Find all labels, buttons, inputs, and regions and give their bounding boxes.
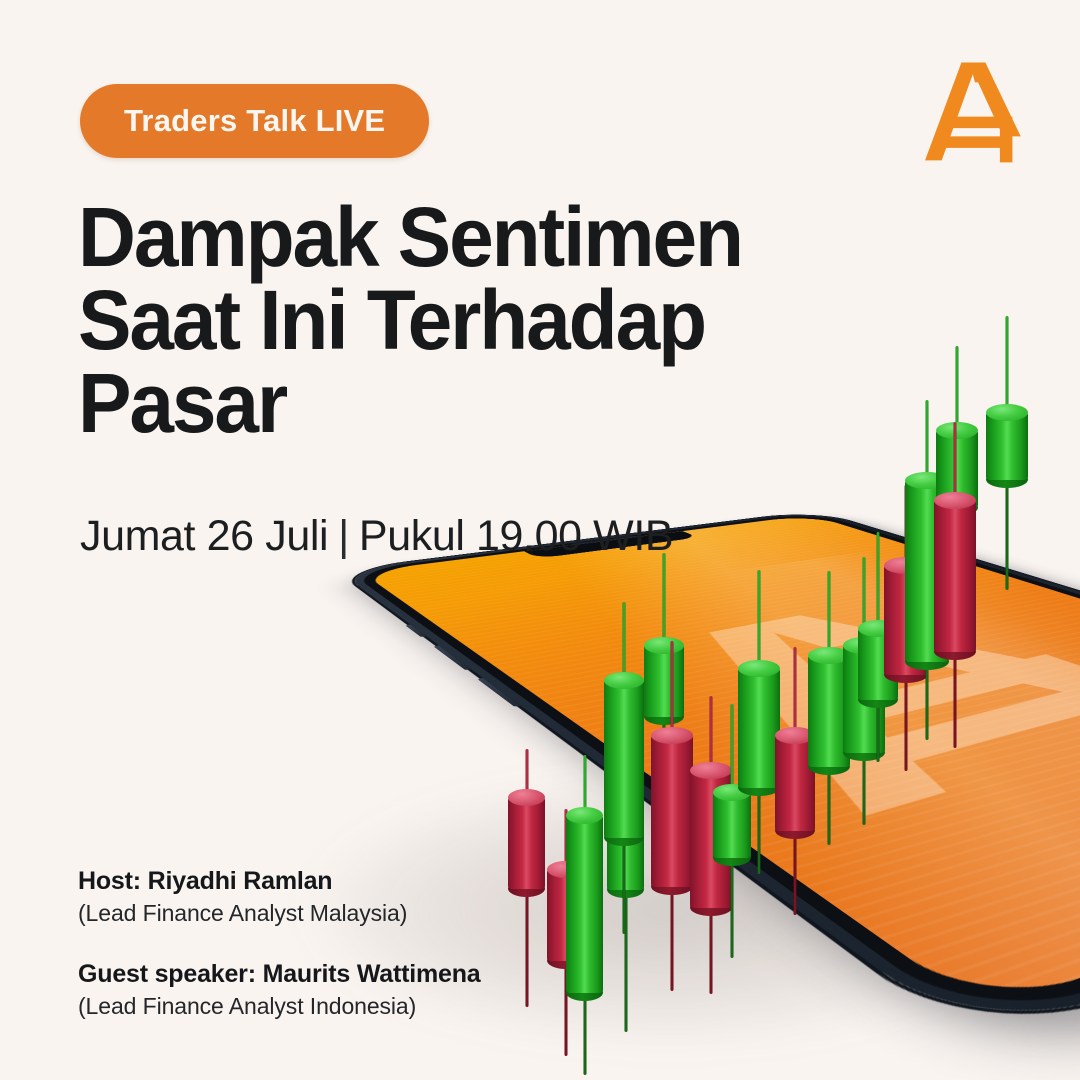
- candle-cap-top: [808, 647, 850, 664]
- candle-wick-lower: [828, 767, 831, 845]
- candle-wick-lower: [926, 662, 929, 740]
- candle-wick-lower: [623, 838, 626, 934]
- live-badge: Traders Talk LIVE: [80, 84, 429, 158]
- candle-wick-lower: [956, 508, 959, 564]
- candle-wick-lower: [525, 889, 528, 1007]
- candle-wick-upper: [794, 647, 797, 735]
- candlestick-bullish: [566, 815, 603, 993]
- phone-volume-up-button: [433, 645, 471, 670]
- candle-body: [843, 645, 885, 753]
- candle-cap-top: [651, 727, 693, 744]
- candle-wick-lower: [758, 788, 761, 874]
- candle-wick-upper: [564, 809, 567, 869]
- candle-wick-lower: [905, 675, 908, 771]
- candle-wick-upper: [926, 400, 929, 480]
- candle-body: [884, 565, 928, 675]
- candle-body: [508, 797, 545, 889]
- credit-role: (Lead Finance Analyst Malaysia): [78, 899, 481, 929]
- phone-volume-down-button: [477, 678, 520, 707]
- candle-wick-lower: [877, 700, 880, 762]
- candle-cap-top: [858, 620, 898, 637]
- candle-cap-bottom: [808, 758, 850, 775]
- candle-cap-bottom: [508, 880, 545, 897]
- schedule-separator: |: [338, 512, 349, 561]
- candlestick-bullish: [843, 645, 885, 753]
- candle-wick-upper: [954, 422, 957, 500]
- candlestick-bearish: [884, 565, 928, 675]
- candle-cap-bottom: [547, 952, 584, 969]
- candle-wick-upper: [905, 485, 908, 565]
- candle-wick-lower: [710, 908, 713, 994]
- candle-body: [858, 628, 898, 700]
- credit-name: Guest speaker: Maurits Wattimena: [78, 959, 481, 990]
- candle-body: [690, 770, 732, 908]
- candle-wick-upper: [877, 532, 880, 628]
- candle-wick-lower: [583, 993, 586, 1075]
- credit-role: (Lead Finance Analyst Indonesia): [78, 992, 481, 1022]
- candle-body: [547, 869, 584, 961]
- candle-cap-bottom: [604, 829, 644, 846]
- credit-entry: Guest speaker: Maurits Wattimena(Lead Fi…: [78, 959, 481, 1022]
- candle-cap-top: [934, 492, 976, 509]
- candle-body: [713, 792, 751, 858]
- candle-wick-lower: [663, 717, 666, 759]
- credit-name: Host: Riyadhi Ramlan: [78, 866, 481, 897]
- candle-cap-bottom: [884, 666, 928, 683]
- candle-cap-top: [566, 807, 603, 824]
- candle-cap-bottom: [644, 708, 684, 725]
- candle-cap-top: [986, 404, 1028, 421]
- candle-wick-lower: [564, 961, 567, 1056]
- candle-cap-bottom: [738, 779, 780, 796]
- candle-wick-upper: [1006, 316, 1009, 412]
- candle-body: [566, 815, 603, 993]
- candle-cap-top: [607, 800, 644, 817]
- headline-line-3: Pasar: [78, 362, 804, 445]
- page-title: Dampak Sentimen Saat Ini Terhadap Pasar: [78, 196, 804, 445]
- aa-monogram-watermark-icon: [532, 585, 1080, 841]
- headline-line-1: Dampak Sentimen: [78, 196, 804, 279]
- candlestick-bullish: [808, 655, 850, 767]
- candlestick-bullish: [644, 645, 684, 717]
- candle-cap-top: [547, 861, 584, 878]
- candle-cap-top: [713, 784, 751, 801]
- candlestick-bullish: [604, 680, 644, 838]
- candle-cap-top: [644, 637, 684, 654]
- candle-body: [651, 735, 693, 887]
- candlestick-bullish: [986, 412, 1028, 480]
- candle-body: [934, 500, 976, 652]
- candle-wick-upper: [525, 749, 528, 797]
- promo-poster: Traders Talk LIVE Dampak Sentimen Saat I…: [0, 0, 1080, 1080]
- candle-wick-upper: [758, 570, 761, 668]
- candlestick-bearish: [547, 869, 584, 961]
- candle-wick-lower: [731, 858, 734, 958]
- candle-cap-bottom: [986, 471, 1028, 488]
- candle-cap-bottom: [936, 499, 978, 516]
- aa-monogram-logo-icon: [924, 58, 1028, 168]
- candle-body: [604, 680, 644, 838]
- candle-wick-upper: [624, 696, 627, 808]
- credit-entry: Host: Riyadhi Ramlan(Lead Finance Analys…: [78, 866, 481, 929]
- candle-wick-lower: [671, 887, 674, 991]
- candle-cap-top: [690, 762, 732, 779]
- candle-wick-upper: [863, 557, 866, 645]
- candle-body: [986, 412, 1028, 480]
- candlestick-bearish: [934, 500, 976, 652]
- candle-body: [775, 735, 815, 831]
- candle-wick-upper: [583, 755, 586, 815]
- candlestick-bearish: [508, 797, 545, 889]
- candlestick-bullish: [936, 430, 978, 508]
- schedule-line: Jumat 26 Juli|Pukul 19.00 WIB: [80, 512, 673, 561]
- candle-wick-lower: [794, 831, 797, 915]
- candlestick-bearish: [690, 770, 732, 908]
- candle-cap-bottom: [607, 881, 644, 898]
- candle-cap-top: [843, 637, 885, 654]
- candle-cap-bottom: [566, 984, 603, 1001]
- credits-block: Host: Riyadhi Ramlan(Lead Finance Analys…: [78, 866, 481, 1022]
- candle-cap-top: [508, 789, 545, 806]
- candle-cap-top: [775, 727, 815, 744]
- candlestick-bearish: [775, 735, 815, 831]
- candle-wick-lower: [1006, 480, 1009, 590]
- candlestick-bearish: [651, 735, 693, 887]
- candlestick-bullish: [738, 668, 780, 788]
- schedule-date: Jumat 26 Juli: [80, 512, 328, 560]
- candle-wick-lower: [863, 753, 866, 825]
- candle-wick-upper: [956, 346, 959, 430]
- candle-cap-top: [884, 557, 928, 574]
- candle-cap-top: [604, 672, 644, 689]
- candle-cap-bottom: [690, 899, 732, 916]
- candle-wick-upper: [710, 696, 713, 770]
- candle-cap-bottom: [843, 744, 885, 761]
- phone-mute-switch: [405, 625, 426, 638]
- candle-body: [738, 668, 780, 788]
- candle-cap-top: [905, 472, 949, 489]
- candle-cap-bottom: [934, 643, 976, 660]
- candle-body: [644, 645, 684, 717]
- candle-cap-bottom: [713, 849, 751, 866]
- candlestick-bullish: [713, 792, 751, 858]
- candle-wick-upper: [731, 704, 734, 792]
- candle-body: [607, 808, 644, 890]
- candlestick-bullish: [607, 808, 644, 890]
- candle-cap-top: [738, 660, 780, 677]
- candle-wick-lower: [624, 890, 627, 1032]
- schedule-time: Pukul 19.00 WIB: [359, 512, 673, 560]
- headline-line-2: Saat Ini Terhadap: [78, 279, 804, 362]
- candle-wick-upper: [663, 553, 666, 645]
- candle-wick-upper: [623, 602, 626, 680]
- candle-body: [808, 655, 850, 767]
- candlestick-bullish: [905, 480, 949, 662]
- candle-cap-bottom: [651, 878, 693, 895]
- candle-wick-lower: [954, 652, 957, 748]
- candle-body: [905, 480, 949, 662]
- candlestick-bullish: [858, 628, 898, 700]
- candle-cap-bottom: [905, 653, 949, 670]
- candle-cap-bottom: [858, 691, 898, 708]
- candle-body: [936, 430, 978, 508]
- candle-wick-upper: [671, 641, 674, 735]
- candle-cap-bottom: [775, 822, 815, 839]
- candle-wick-upper: [828, 571, 831, 655]
- candle-cap-top: [936, 422, 978, 439]
